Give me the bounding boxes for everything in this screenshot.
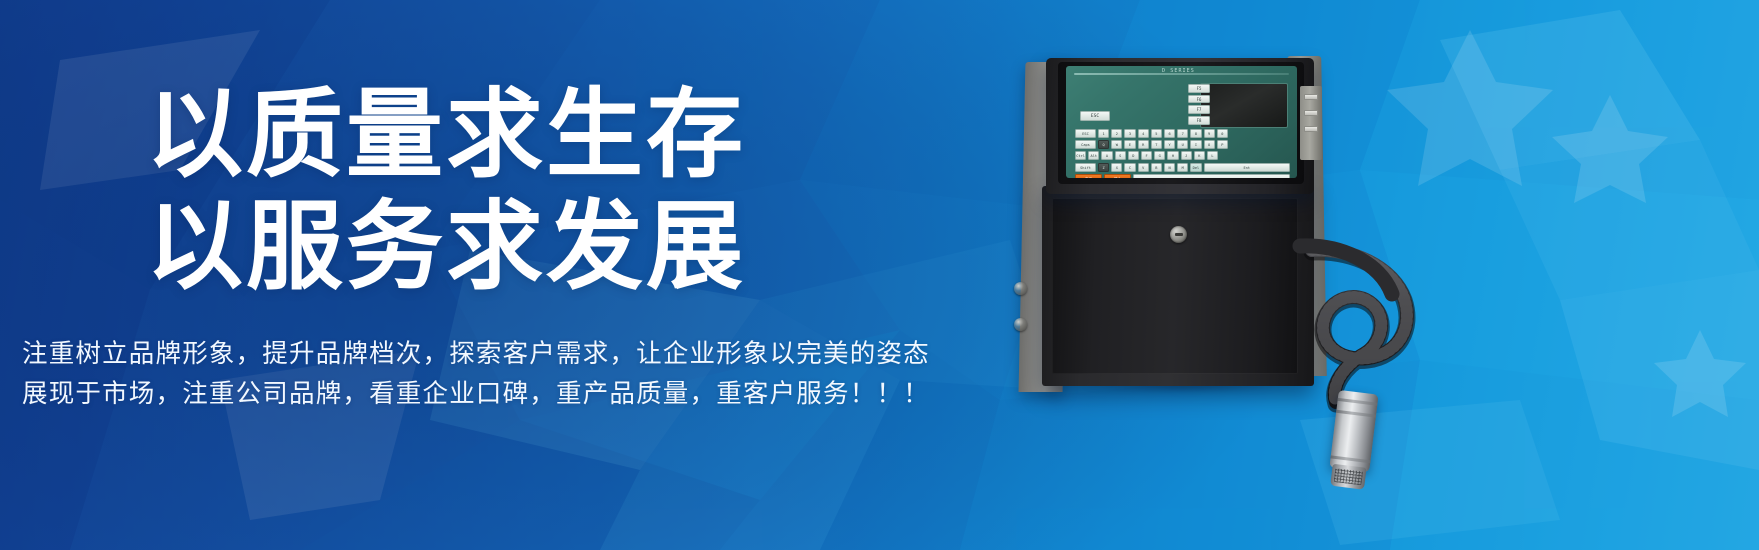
headline-line-2: 以服务求发展 [146,198,746,295]
headline: 以质量求生存 以服务求发展 [146,86,746,295]
promo-banner: 以质量求生存 以服务求发展 注重树立品牌形象，提升品牌档次，探索客户需求，让企业… [0,0,1759,550]
subtitle-line-1: 注重树立品牌形象，提升品牌档次，探索客户需求，让企业形象以完美的姿态 [22,333,930,370]
product-image-inkjet-printer: D SERIES F5 F6 F7 F8 ESC ESC 1 2 3 4 5 6 [1000,0,1759,550]
headline-line-1: 以质量求生存 [146,78,746,191]
subtitle-line-2: 展现于市场，注重公司品牌，看重企业口碑，重产品质量，重客户服务！！！ [22,373,930,410]
copy-block: 以质量求生存 以服务求发展 注重树立品牌形象，提升品牌档次，探索客户需求，让企业… [0,0,1020,550]
